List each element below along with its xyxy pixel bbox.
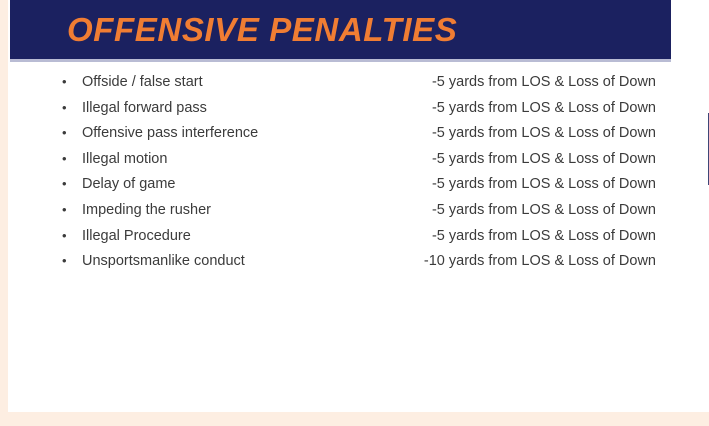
penalty-result: -5 yards from LOS & Loss of Down — [304, 123, 656, 143]
list-item: •Illegal forward pass -5 yards from LOS … — [4, 98, 709, 124]
bullet-icon: • — [62, 149, 82, 169]
penalty-name: Offensive pass interference — [82, 125, 258, 141]
bullet-icon: • — [62, 251, 82, 271]
title-bar-underline — [10, 59, 671, 62]
penalty-result: -5 yards from LOS & Loss of Down — [304, 149, 656, 169]
list-item: •Offensive pass interference -5 yards fr… — [4, 123, 709, 149]
penalty-result: -5 yards from LOS & Loss of Down — [304, 226, 656, 246]
bottom-accent-strip — [8, 412, 709, 426]
list-item: •Unsportsmanlike conduct -10 yards from … — [4, 251, 709, 277]
penalty-name: Unsportsmanlike conduct — [82, 253, 245, 269]
list-item: •Illegal motion -5 yards from LOS & Loss… — [4, 149, 709, 175]
penalty-result: -5 yards from LOS & Loss of Down — [304, 174, 656, 194]
penalty-result: -5 yards from LOS & Loss of Down — [304, 200, 656, 220]
penalty-name: Illegal forward pass — [82, 100, 207, 116]
list-item: •Illegal Procedure -5 yards from LOS & L… — [4, 226, 709, 252]
bullet-icon: • — [62, 200, 82, 220]
penalty-result: -5 yards from LOS & Loss of Down — [304, 72, 656, 92]
penalty-name: Illegal motion — [82, 151, 167, 167]
penalty-name: Delay of game — [82, 176, 176, 192]
bullet-icon: • — [62, 226, 82, 246]
list-item: •Offside / false start -5 yards from LOS… — [4, 72, 709, 98]
slide: OFFENSIVE PENALTIES •Offside / false sta… — [0, 0, 709, 426]
penalty-name: Illegal Procedure — [82, 228, 191, 244]
penalty-name: Offside / false start — [82, 74, 203, 90]
bullet-icon: • — [62, 123, 82, 143]
list-item: •Impeding the rusher -5 yards from LOS &… — [4, 200, 709, 226]
penalties-list: •Offside / false start -5 yards from LOS… — [4, 72, 709, 277]
page-title: OFFENSIVE PENALTIES — [67, 9, 457, 51]
penalty-name: Impeding the rusher — [82, 202, 211, 218]
bullet-icon: • — [62, 98, 82, 118]
bullet-icon: • — [62, 174, 82, 194]
penalty-result: -10 yards from LOS & Loss of Down — [304, 251, 656, 271]
bullet-icon: • — [62, 72, 82, 92]
penalty-result: -5 yards from LOS & Loss of Down — [304, 98, 656, 118]
list-item: •Delay of game -5 yards from LOS & Loss … — [4, 174, 709, 200]
